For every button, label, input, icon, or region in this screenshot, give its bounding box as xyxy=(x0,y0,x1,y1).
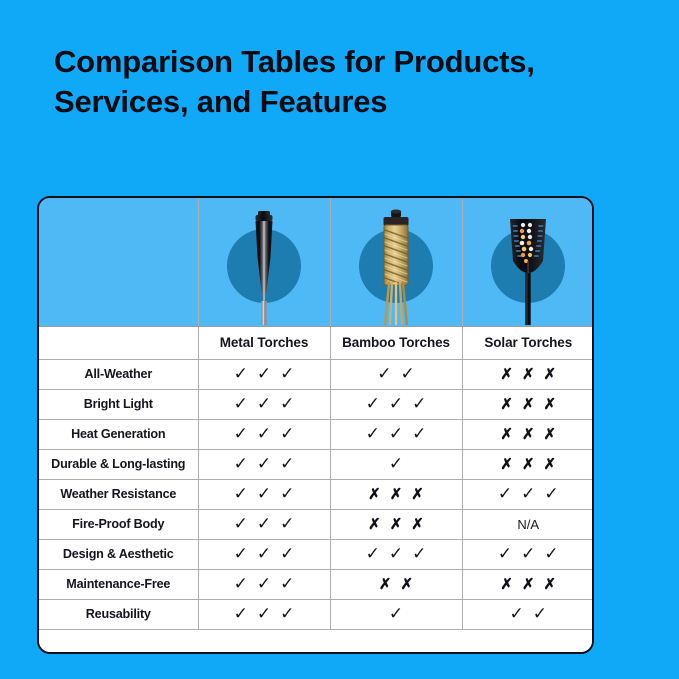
rating-marks: ✗✗ xyxy=(331,570,462,599)
check-icon: ✓ xyxy=(521,485,535,502)
table-row: All-Weather✓✓✓✓✓✗✗✗ xyxy=(39,359,594,389)
rating-marks: ✓✓✓ xyxy=(199,540,330,569)
rating-marks: ✓✓ xyxy=(331,360,462,389)
check-icon: ✓ xyxy=(389,545,403,562)
product-header-solar: Solar Torches xyxy=(462,326,594,359)
cross-icon: ✗ xyxy=(522,397,535,412)
rating-marks: ✓✓✓ xyxy=(199,390,330,419)
rating-marks: ✓✓✓ xyxy=(463,540,595,569)
feature-label-cell: All-Weather xyxy=(39,359,198,389)
table-row: Reusability✓✓✓✓✓✓ xyxy=(39,599,594,629)
rating-cell-bamboo: ✗✗✗ xyxy=(330,509,462,539)
rating-marks: ✓✓✓ xyxy=(199,420,330,449)
rating-marks: ✓✓✓ xyxy=(199,450,330,479)
feature-label-cell: Durable & Long-lasting xyxy=(39,449,198,479)
rating-marks: ✓✓✓ xyxy=(199,510,330,539)
check-icon: ✓ xyxy=(257,365,271,382)
rating-cell-bamboo: ✗✗✗ xyxy=(330,479,462,509)
rating-marks: ✗✗✗ xyxy=(463,570,595,599)
feature-label: Design & Aesthetic xyxy=(39,547,198,561)
check-icon: ✓ xyxy=(257,575,271,592)
comparison-table-body: Metal Torches Bamboo Torches Solar Torch… xyxy=(39,198,594,654)
check-icon: ✓ xyxy=(389,605,403,622)
cross-icon: ✗ xyxy=(500,427,513,442)
check-icon: ✓ xyxy=(257,425,271,442)
rating-cell-bamboo: ✗✗ xyxy=(330,569,462,599)
product-image-cell-metal xyxy=(198,198,330,326)
feature-label: Maintenance-Free xyxy=(39,577,198,591)
rating-cell-solar: N/A xyxy=(462,509,594,539)
check-icon: ✓ xyxy=(389,425,403,442)
check-icon: ✓ xyxy=(533,605,547,622)
product-header-bamboo: Bamboo Torches xyxy=(330,326,462,359)
product-image-row xyxy=(39,198,594,326)
check-icon: ✓ xyxy=(377,365,391,382)
check-icon: ✓ xyxy=(280,485,294,502)
cross-icon: ✗ xyxy=(379,577,392,592)
rating-marks: ✗✗✗ xyxy=(463,450,595,479)
rating-marks: ✓ xyxy=(331,600,462,629)
cross-icon: ✗ xyxy=(522,367,535,382)
rating-marks: ✓ xyxy=(331,450,462,479)
rating-marks: ✗✗✗ xyxy=(463,420,595,449)
cross-icon: ✗ xyxy=(522,457,535,472)
rating-cell-solar: ✓✓ xyxy=(462,599,594,629)
check-icon: ✓ xyxy=(234,395,248,412)
feature-label: Reusability xyxy=(39,607,198,621)
feature-label-cell: Heat Generation xyxy=(39,419,198,449)
rating-cell-metal: ✓✓✓ xyxy=(198,539,330,569)
check-icon: ✓ xyxy=(257,545,271,562)
cross-icon: ✗ xyxy=(368,487,381,502)
check-icon: ✓ xyxy=(280,365,294,382)
check-icon: ✓ xyxy=(412,395,426,412)
rating-marks: ✗✗✗ xyxy=(463,390,595,419)
cross-icon: ✗ xyxy=(544,577,557,592)
check-icon: ✓ xyxy=(234,365,248,382)
feature-label: Weather Resistance xyxy=(39,487,198,501)
feature-label-cell: Design & Aesthetic xyxy=(39,539,198,569)
table-row: Maintenance-Free✓✓✓✗✗✗✗✗ xyxy=(39,569,594,599)
feature-label-cell: Weather Resistance xyxy=(39,479,198,509)
feature-label: Heat Generation xyxy=(39,427,198,441)
rating-marks: N/A xyxy=(463,510,595,539)
product-image-cell-solar xyxy=(462,198,594,326)
cross-icon: ✗ xyxy=(390,517,403,532)
rating-marks: ✓✓✓ xyxy=(331,390,462,419)
metal-torch-image xyxy=(229,199,299,325)
comparison-table-card: Metal Torches Bamboo Torches Solar Torch… xyxy=(37,196,594,654)
cross-icon: ✗ xyxy=(522,577,535,592)
rating-cell-metal: ✓✓✓ xyxy=(198,419,330,449)
bamboo-torch-image xyxy=(361,199,431,325)
rating-cell-solar: ✗✗✗ xyxy=(462,389,594,419)
feature-label-cell: Bright Light xyxy=(39,389,198,419)
rating-marks: ✗✗✗ xyxy=(331,480,462,509)
page-title: Comparison Tables for Products, Services… xyxy=(54,42,614,121)
rating-cell-metal: ✓✓✓ xyxy=(198,509,330,539)
check-icon: ✓ xyxy=(257,515,271,532)
rating-cell-metal: ✓✓✓ xyxy=(198,479,330,509)
check-icon: ✓ xyxy=(510,605,524,622)
not-applicable-label: N/A xyxy=(517,518,539,531)
check-icon: ✓ xyxy=(412,425,426,442)
check-icon: ✓ xyxy=(257,485,271,502)
table-row: Heat Generation✓✓✓✓✓✓✗✗✗ xyxy=(39,419,594,449)
check-icon: ✓ xyxy=(498,485,512,502)
rating-cell-solar: ✓✓✓ xyxy=(462,539,594,569)
feature-label: Bright Light xyxy=(39,397,198,411)
rating-cell-metal: ✓✓✓ xyxy=(198,599,330,629)
check-icon: ✓ xyxy=(498,545,512,562)
check-icon: ✓ xyxy=(366,545,380,562)
check-icon: ✓ xyxy=(280,395,294,412)
cross-icon: ✗ xyxy=(544,367,557,382)
check-icon: ✓ xyxy=(257,605,271,622)
feature-label: All-Weather xyxy=(39,367,198,381)
rating-marks: ✓✓✓ xyxy=(199,600,330,629)
check-icon: ✓ xyxy=(234,605,248,622)
rating-cell-bamboo: ✓✓✓ xyxy=(330,419,462,449)
page-title-line-2: Services, and Features xyxy=(54,82,614,122)
solar-torch-image xyxy=(493,199,563,325)
rating-cell-metal: ✓✓✓ xyxy=(198,569,330,599)
rating-marks: ✓✓✓ xyxy=(331,420,462,449)
cross-icon: ✗ xyxy=(411,517,424,532)
cross-icon: ✗ xyxy=(544,397,557,412)
rating-marks: ✗✗✗ xyxy=(463,360,595,389)
rating-cell-bamboo: ✓✓✓ xyxy=(330,389,462,419)
check-icon: ✓ xyxy=(280,605,294,622)
check-icon: ✓ xyxy=(280,515,294,532)
product-header-metal: Metal Torches xyxy=(198,326,330,359)
check-icon: ✓ xyxy=(280,425,294,442)
cross-icon: ✗ xyxy=(411,487,424,502)
cross-icon: ✗ xyxy=(500,577,513,592)
feature-label: Fire-Proof Body xyxy=(39,517,198,531)
cross-icon: ✗ xyxy=(401,577,414,592)
feature-label: Durable & Long-lasting xyxy=(39,457,198,471)
check-icon: ✓ xyxy=(521,545,535,562)
rating-cell-bamboo: ✓ xyxy=(330,449,462,479)
cross-icon: ✗ xyxy=(544,427,557,442)
cross-icon: ✗ xyxy=(390,487,403,502)
check-icon: ✓ xyxy=(234,425,248,442)
rating-cell-metal: ✓✓✓ xyxy=(198,449,330,479)
table-footer-strip xyxy=(39,629,594,654)
check-icon: ✓ xyxy=(280,545,294,562)
rating-cell-solar: ✓✓✓ xyxy=(462,479,594,509)
check-icon: ✓ xyxy=(280,575,294,592)
cross-icon: ✗ xyxy=(544,457,557,472)
product-image-cell-bamboo xyxy=(330,198,462,326)
check-icon: ✓ xyxy=(234,515,248,532)
cross-icon: ✗ xyxy=(500,367,513,382)
rating-cell-bamboo: ✓ xyxy=(330,599,462,629)
table-row: Bright Light✓✓✓✓✓✓✗✗✗ xyxy=(39,389,594,419)
page-title-line-1: Comparison Tables for Products, xyxy=(54,42,614,82)
cross-icon: ✗ xyxy=(522,427,535,442)
rating-marks: ✓✓✓ xyxy=(331,540,462,569)
feature-label-cell: Maintenance-Free xyxy=(39,569,198,599)
check-icon: ✓ xyxy=(389,455,403,472)
rating-cell-solar: ✗✗✗ xyxy=(462,419,594,449)
check-icon: ✓ xyxy=(280,455,294,472)
table-row: Weather Resistance✓✓✓✗✗✗✓✓✓ xyxy=(39,479,594,509)
rating-marks: ✓✓✓ xyxy=(199,570,330,599)
check-icon: ✓ xyxy=(366,395,380,412)
corner-cell xyxy=(39,198,198,326)
rating-cell-bamboo: ✓✓ xyxy=(330,359,462,389)
comparison-table: Metal Torches Bamboo Torches Solar Torch… xyxy=(39,198,594,654)
rating-marks: ✓✓ xyxy=(463,600,595,629)
rating-cell-solar: ✗✗✗ xyxy=(462,569,594,599)
rating-cell-solar: ✗✗✗ xyxy=(462,449,594,479)
check-icon: ✓ xyxy=(234,575,248,592)
check-icon: ✓ xyxy=(401,365,415,382)
cross-icon: ✗ xyxy=(500,457,513,472)
feature-label-cell: Fire-Proof Body xyxy=(39,509,198,539)
cross-icon: ✗ xyxy=(500,397,513,412)
rating-marks: ✗✗✗ xyxy=(331,510,462,539)
rating-marks: ✓✓✓ xyxy=(463,480,595,509)
check-icon: ✓ xyxy=(544,485,558,502)
check-icon: ✓ xyxy=(257,395,271,412)
check-icon: ✓ xyxy=(234,485,248,502)
check-icon: ✓ xyxy=(389,395,403,412)
feature-column-header xyxy=(39,326,198,359)
rating-cell-metal: ✓✓✓ xyxy=(198,359,330,389)
table-row: Durable & Long-lasting✓✓✓✓✗✗✗ xyxy=(39,449,594,479)
page-root: Comparison Tables for Products, Services… xyxy=(0,0,679,679)
rating-cell-bamboo: ✓✓✓ xyxy=(330,539,462,569)
check-icon: ✓ xyxy=(366,425,380,442)
rating-cell-metal: ✓✓✓ xyxy=(198,389,330,419)
check-icon: ✓ xyxy=(234,545,248,562)
check-icon: ✓ xyxy=(412,545,426,562)
check-icon: ✓ xyxy=(257,455,271,472)
cross-icon: ✗ xyxy=(368,517,381,532)
check-icon: ✓ xyxy=(544,545,558,562)
table-row: Fire-Proof Body✓✓✓✗✗✗N/A xyxy=(39,509,594,539)
check-icon: ✓ xyxy=(234,455,248,472)
product-header-row: Metal Torches Bamboo Torches Solar Torch… xyxy=(39,326,594,359)
table-row: Design & Aesthetic✓✓✓✓✓✓✓✓✓ xyxy=(39,539,594,569)
rating-cell-solar: ✗✗✗ xyxy=(462,359,594,389)
rating-marks: ✓✓✓ xyxy=(199,360,330,389)
feature-label-cell: Reusability xyxy=(39,599,198,629)
rating-marks: ✓✓✓ xyxy=(199,480,330,509)
